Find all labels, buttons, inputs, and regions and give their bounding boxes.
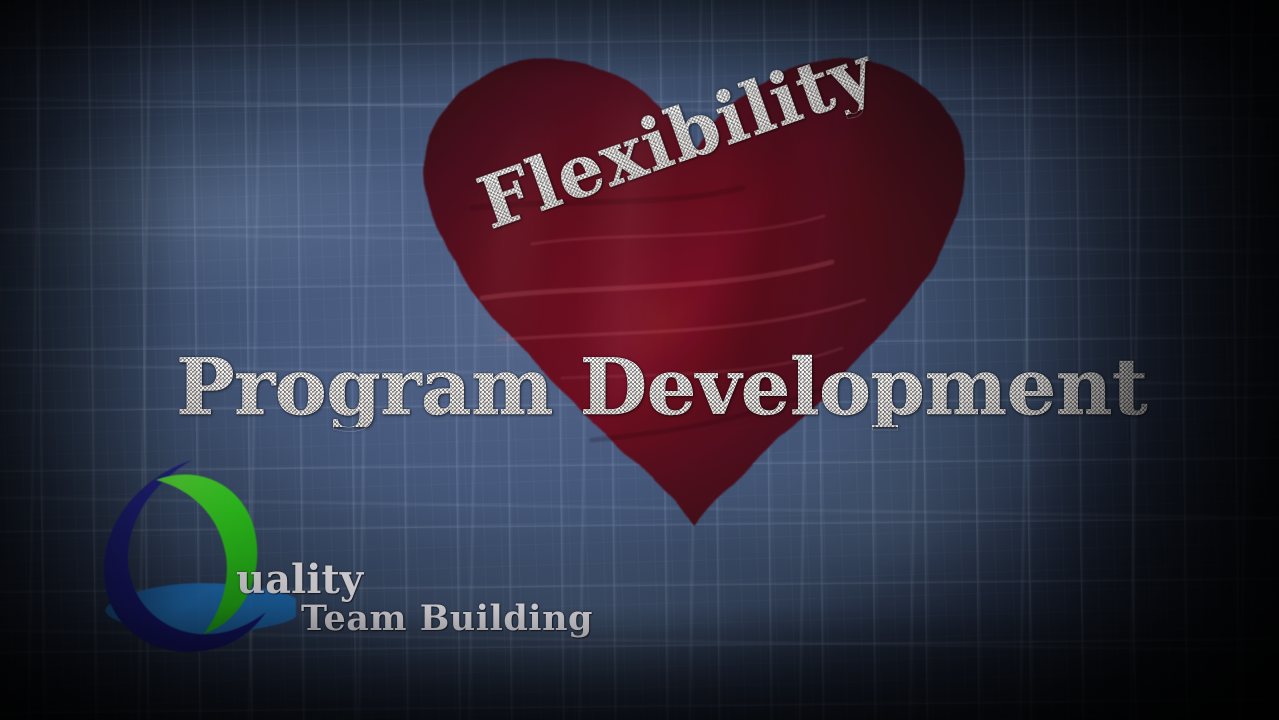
brand-wordmark: uality (236, 556, 363, 603)
page-title: Program Development (176, 349, 1147, 427)
brand-logo[interactable]: uality Team Building (96, 452, 596, 657)
video-frame: Flexibility Program Development (0, 0, 1279, 720)
page-title-text: Program Development (176, 349, 1147, 427)
brand-tagline: Team Building (301, 598, 593, 639)
quality-q-icon (96, 452, 296, 657)
